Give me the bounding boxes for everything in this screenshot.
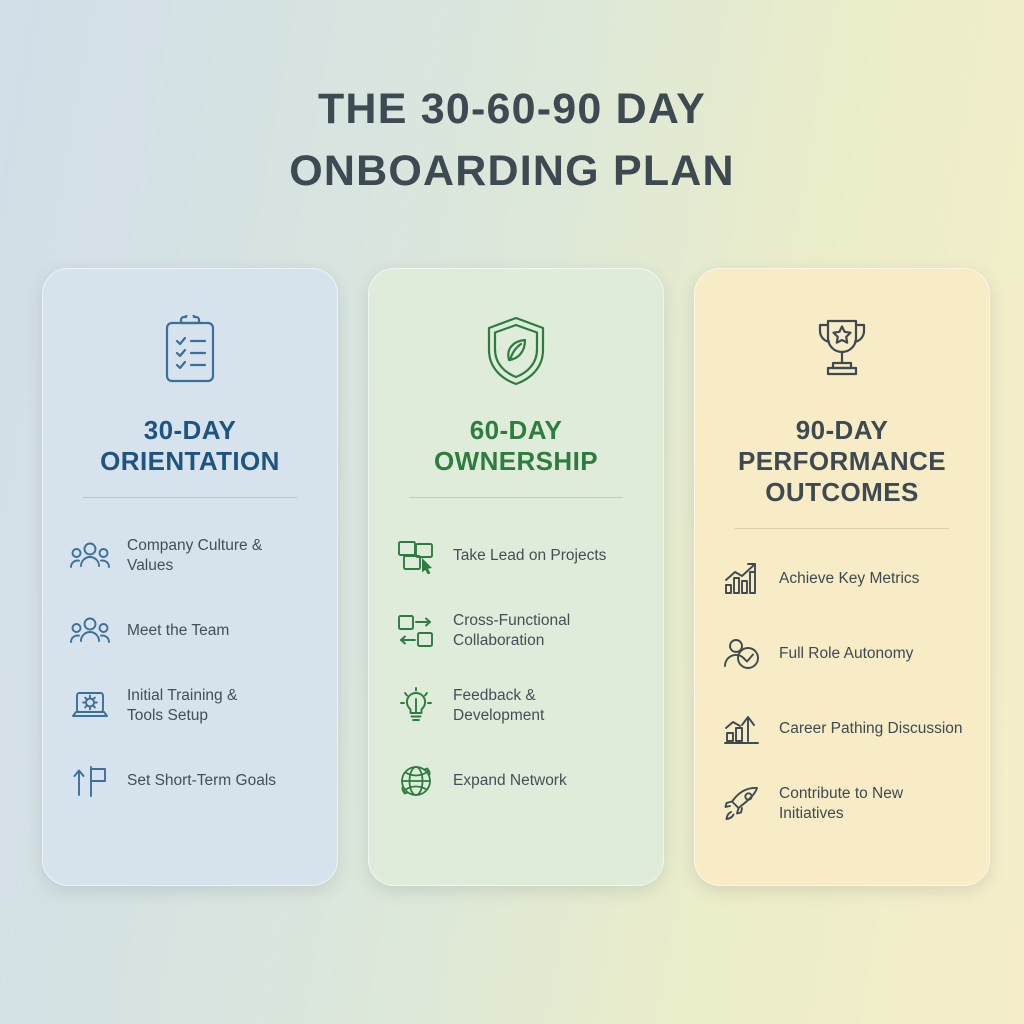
user-check-icon: [721, 633, 763, 675]
list-item[interactable]: Career Pathing Discussion: [721, 691, 963, 766]
phase-cards-row: 30-DAY ORIENTATION Company Culture & Val…: [42, 268, 990, 886]
globe-network-icon: [395, 760, 437, 802]
list-item[interactable]: Full Role Autonomy: [721, 616, 963, 691]
list-item[interactable]: Contribute to New Initiatives: [721, 766, 963, 841]
phase-card-heading-line-2: PERFORMANCE: [721, 446, 963, 477]
card-divider: [409, 497, 623, 498]
flag-arrow-icon: [69, 760, 111, 802]
phase-card-heading-line-2: OWNERSHIP: [395, 446, 637, 477]
list-item-label: Career Pathing Discussion: [779, 719, 963, 739]
list-item-label: Feedback & Development: [453, 686, 544, 726]
page-title-line-2: ONBOARDING PLAN: [0, 140, 1024, 202]
list-item-label: Take Lead on Projects: [453, 546, 606, 566]
shield-leaf-icon: [395, 305, 637, 397]
rocket-icon: [721, 783, 763, 825]
list-item[interactable]: Feedback & Development: [395, 668, 637, 743]
list-item-label: Set Short-Term Goals: [127, 771, 276, 791]
list-item-label: Achieve Key Metrics: [779, 569, 919, 589]
list-item[interactable]: Cross-Functional Collaboration: [395, 593, 637, 668]
list-item-label: Expand Network: [453, 771, 567, 791]
phase-card-heading-line-3: OUTCOMES: [721, 477, 963, 508]
phase-item-list: Take Lead on Projects Cross-Functional C…: [395, 518, 637, 818]
list-item-label: Contribute to New Initiatives: [779, 784, 963, 824]
phase-card-heading-line-1: 30-DAY: [69, 415, 311, 446]
list-item[interactable]: Achieve Key Metrics: [721, 541, 963, 616]
list-item[interactable]: Meet the Team: [69, 593, 311, 668]
phase-item-list: Company Culture & Values Meet the Team: [69, 518, 311, 818]
list-item[interactable]: Take Lead on Projects: [395, 518, 637, 593]
card-divider: [83, 497, 297, 498]
growth-chart-icon: [721, 558, 763, 600]
list-item-label: Initial Training & Tools Setup: [127, 686, 237, 726]
clipboard-checklist-icon: [69, 305, 311, 397]
list-item-label: Cross-Functional Collaboration: [453, 611, 570, 651]
people-group-icon: [69, 535, 111, 577]
phase-card-heading: 30-DAY ORIENTATION: [69, 415, 311, 477]
people-group-icon: [69, 610, 111, 652]
list-item[interactable]: Expand Network: [395, 743, 637, 818]
phase-card-heading: 90-DAY PERFORMANCE OUTCOMES: [721, 415, 963, 508]
list-item[interactable]: Initial Training & Tools Setup: [69, 668, 311, 743]
phase-card-60-day[interactable]: 60-DAY OWNERSHIP Take Lead on Projects: [368, 268, 664, 886]
phase-card-90-day[interactable]: 90-DAY PERFORMANCE OUTCOMES Achieve Key: [694, 268, 990, 886]
card-divider: [735, 528, 949, 529]
phase-card-heading-line-1: 90-DAY: [721, 415, 963, 446]
list-item[interactable]: Company Culture & Values: [69, 518, 311, 593]
phase-card-heading-line-2: ORIENTATION: [69, 446, 311, 477]
list-item[interactable]: Set Short-Term Goals: [69, 743, 311, 818]
laptop-gear-icon: [69, 685, 111, 727]
list-item-label: Company Culture & Values: [127, 536, 311, 576]
trophy-star-icon: [721, 305, 963, 397]
phase-card-heading-line-1: 60-DAY: [395, 415, 637, 446]
list-item-label: Full Role Autonomy: [779, 644, 913, 664]
page-title: THE 30-60-90 DAY ONBOARDING PLAN: [0, 78, 1024, 202]
phase-item-list: Achieve Key Metrics Full Role Autonomy: [721, 541, 963, 841]
lightbulb-icon: [395, 685, 437, 727]
phase-card-heading: 60-DAY OWNERSHIP: [395, 415, 637, 477]
bar-chart-arrow-icon: [721, 708, 763, 750]
windows-cursor-icon: [395, 535, 437, 577]
exchange-arrows-icon: [395, 610, 437, 652]
phase-card-30-day[interactable]: 30-DAY ORIENTATION Company Culture & Val…: [42, 268, 338, 886]
page-title-line-1: THE 30-60-90 DAY: [0, 78, 1024, 140]
list-item-label: Meet the Team: [127, 621, 229, 641]
